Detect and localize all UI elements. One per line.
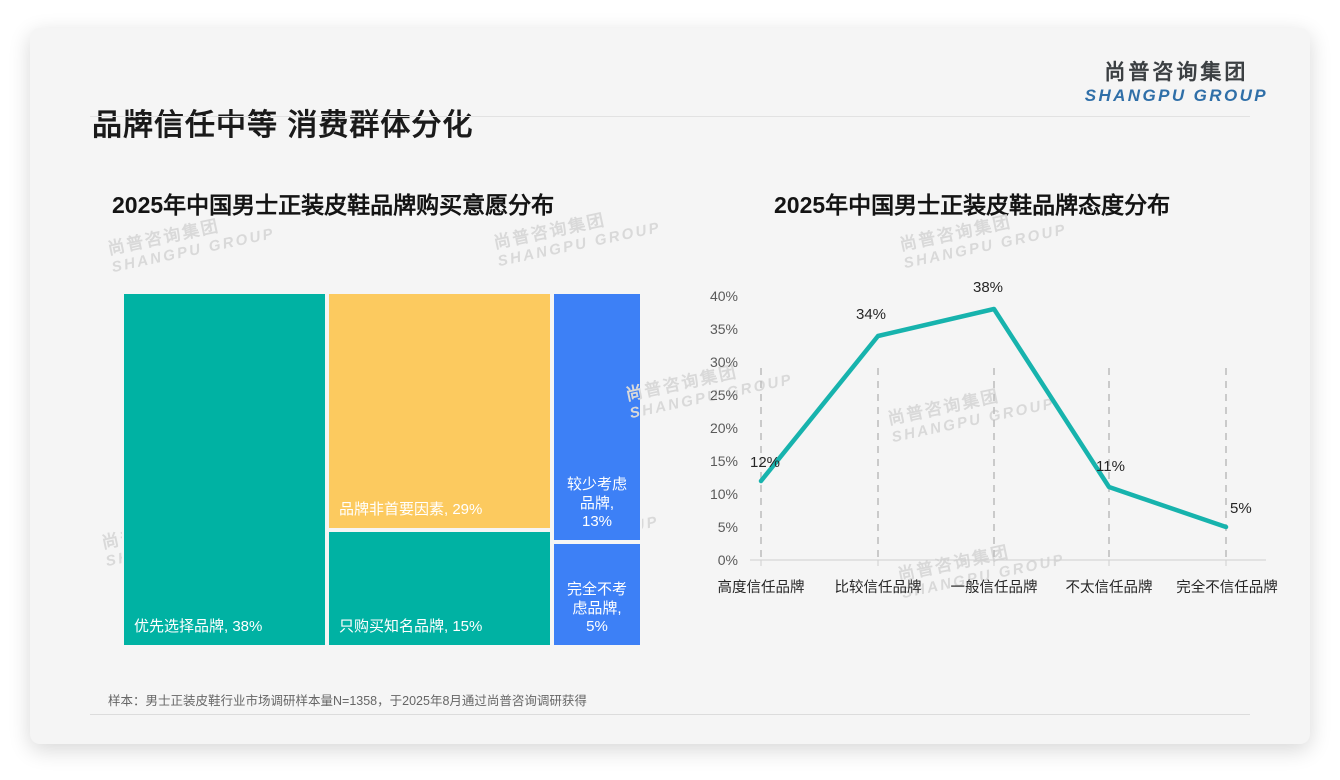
treemap-chart: 优先选择品牌, 38% 品牌非首要因素, 29% 只购买知名品牌, 15% 较少… — [122, 292, 642, 647]
treemap-tile-priority-brand[interactable]: 优先选择品牌, 38% — [122, 292, 327, 647]
treemap-tile-rarely-consider[interactable]: 较少考虑 品牌, 13% — [552, 292, 642, 542]
line-series-brand-attitude[interactable] — [761, 309, 1226, 527]
x-axis-tick-1: 比较信任品牌 — [835, 576, 922, 597]
line-chart-plot — [706, 276, 1296, 676]
x-axis-tick-3: 不太信任品牌 — [1066, 576, 1153, 597]
slide-header: 品牌信任中等 消费群体分化 尚普咨询集团 SHANGPU GROUP — [30, 28, 1310, 118]
treemap-title: 2025年中国男士正装皮鞋品牌购买意愿分布 — [112, 186, 554, 220]
x-axis-ticks — [761, 560, 1226, 566]
treemap-tile-label: 较少考虑 品牌, 13% — [554, 476, 640, 532]
logo-chinese-text: 尚普咨询集团 — [1085, 62, 1268, 83]
treemap-tile-famous-only[interactable]: 只购买知名品牌, 15% — [327, 530, 552, 647]
treemap-tile-label: 优先选择品牌, 38% — [134, 618, 262, 637]
treemap-tile-never-consider[interactable]: 完全不考 虑品牌, 5% — [552, 542, 642, 647]
linechart-title: 2025年中国男士正装皮鞋品牌态度分布 — [774, 186, 1170, 220]
data-label: 11% — [1096, 458, 1125, 475]
x-axis-tick-0: 高度信任品牌 — [718, 576, 805, 597]
x-axis-tick-4: 完全不信任品牌 — [1176, 576, 1278, 597]
data-label: 12% — [750, 454, 780, 471]
treemap-tile-label: 只购买知名品牌, 15% — [339, 618, 482, 637]
treemap-tile-brand-not-primary[interactable]: 品牌非首要因素, 29% — [327, 292, 552, 530]
brand-logo: 尚普咨询集团 SHANGPU GROUP — [1085, 62, 1268, 104]
page-title: 品牌信任中等 消费群体分化 — [92, 100, 473, 144]
header-divider — [90, 116, 1250, 117]
x-axis-tick-2: 一般信任品牌 — [951, 576, 1038, 597]
linechart-panel: 2025年中国男士正装皮鞋品牌态度分布 尚普咨询集团 SHANGPU GROUP… — [706, 148, 1296, 693]
treemap-tile-label: 完全不考 虑品牌, 5% — [554, 581, 640, 637]
footer-divider — [90, 714, 1250, 715]
treemap-panel: 2025年中国男士正装皮鞋品牌购买意愿分布 尚普咨询集团 SHANGPU GRO… — [82, 148, 682, 693]
line-chart: 40% 35% 30% 25% 20% 15% 10% 5% 0% — [706, 276, 1296, 676]
data-label: 5% — [1230, 500, 1252, 517]
treemap-tile-label: 品牌非首要因素, 29% — [339, 501, 482, 520]
source-footnote: 样本：男士正装皮鞋行业市场调研样本量N=1358，于2025年8月通过尚普咨询调… — [108, 690, 587, 709]
data-label: 38% — [973, 279, 1003, 296]
data-label: 34% — [856, 306, 886, 323]
slide-card: 品牌信任中等 消费群体分化 尚普咨询集团 SHANGPU GROUP 2025年… — [30, 28, 1310, 744]
logo-english-text: SHANGPU GROUP — [1085, 87, 1268, 104]
